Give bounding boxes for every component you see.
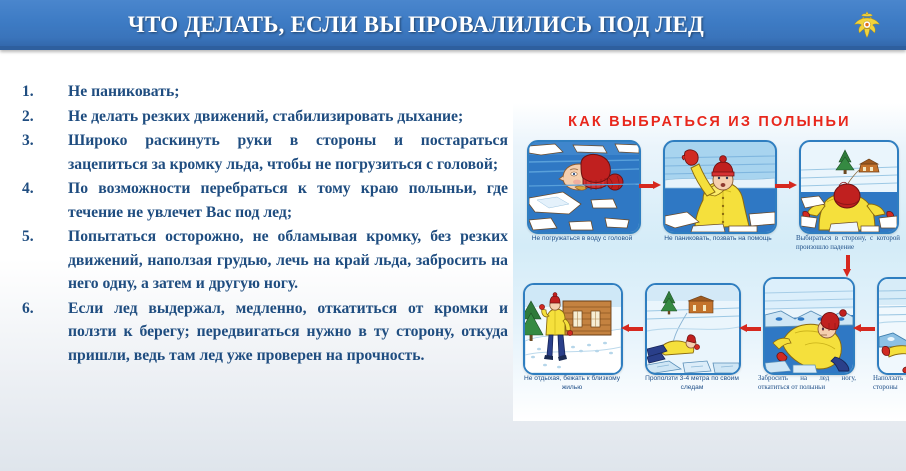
arrow-right-1-icon xyxy=(639,181,661,190)
list-item: 5. Попытаться осторожно, не обламывая кр… xyxy=(12,225,512,296)
list-item-text: Если лед выдержал, медленно, откатиться … xyxy=(68,297,512,368)
list-item-text: Широко раскинуть руки в стороны и постар… xyxy=(68,129,512,176)
panel-3-caption: Выбираться в сторону, с которой произошл… xyxy=(796,235,900,252)
panel-7-caption-text: Наползать на лед, раскинув руки в сторон… xyxy=(873,375,906,392)
panel-1-caption: Не погружаться в воду с головой xyxy=(523,235,641,244)
panel-4-run-to-shelter xyxy=(523,283,623,375)
list-item-text: Не делать резких движений, стабилизирова… xyxy=(68,105,512,129)
list-item-text: Не паниковать; xyxy=(68,80,512,104)
slide-canvas: ЧТО ДЕЛАТЬ, ЕСЛИ ВЫ ПРОВАЛИЛИСЬ ПОД ЛЕД xyxy=(0,0,906,471)
arrow-left-3-icon xyxy=(853,324,875,333)
list-item-number: 4. xyxy=(12,177,68,201)
list-item-number: 1. xyxy=(12,80,68,104)
list-item-text: По возможности перебраться к тому краю п… xyxy=(68,177,512,224)
list-item: 4. По возможности перебраться к тому кра… xyxy=(12,177,512,224)
list-item-number: 6. xyxy=(12,297,68,321)
panel-5-crawl-own-tracks xyxy=(645,283,741,375)
page-title: ЧТО ДЕЛАТЬ, ЕСЛИ ВЫ ПРОВАЛИЛИСЬ ПОД ЛЕД xyxy=(66,8,766,42)
panel-6-caption-text: Забросить на лед ногу, откатиться от пол… xyxy=(758,375,856,392)
arrow-right-2-icon xyxy=(775,181,797,190)
panel-7-spread-arms-on-ice xyxy=(877,277,906,375)
list-item-number: 5. xyxy=(12,225,68,249)
infographic-panel: КАК ВЫБРАТЬСЯ ИЗ ПОЛЫНЬИ xyxy=(513,103,906,421)
infographic-title: КАК ВЫБРАТЬСЯ ИЗ ПОЛЫНЬИ xyxy=(513,114,906,130)
list-item: 6. Если лед выдержал, медленно, откатить… xyxy=(12,297,512,368)
list-item: 3. Широко раскинуть руки в стороны и пос… xyxy=(12,129,512,176)
panel-6-leg-onto-ice xyxy=(763,277,855,375)
panel-3-caption-text: Выбираться в сторону, с которой произошл… xyxy=(796,235,900,252)
panel-4-caption: Не отдыхая, бежать к близкому жилью xyxy=(517,375,627,392)
list-item-number: 3. xyxy=(12,129,68,153)
arrow-left-1-icon xyxy=(621,324,643,333)
panel-6-caption: Забросить на лед ногу, откатиться от пол… xyxy=(758,375,856,392)
emercom-eagle-emblem-icon xyxy=(850,9,884,43)
panel-3-exit-same-side xyxy=(799,140,899,234)
panel-5-caption: Проползти 3-4 метра по своим следам xyxy=(639,375,745,392)
panel-1-head-in-water xyxy=(527,140,641,234)
arrow-left-2-icon xyxy=(739,324,761,333)
panel-2-caption: Не паниковать, позвать на помощь xyxy=(661,235,775,244)
list-item-text: Попытаться осторожно, не обламывая кромк… xyxy=(68,225,512,296)
list-item: 1. Не паниковать; xyxy=(12,80,512,104)
panel-2-call-for-help xyxy=(663,140,777,234)
panel-7-caption: Наползать на лед, раскинув руки в сторон… xyxy=(873,375,906,392)
instructions-list: 1. Не паниковать; 2. Не делать резких дв… xyxy=(12,80,512,368)
slide-header-bar: ЧТО ДЕЛАТЬ, ЕСЛИ ВЫ ПРОВАЛИЛИСЬ ПОД ЛЕД xyxy=(0,0,906,50)
arrow-down-icon xyxy=(843,255,852,277)
list-item: 2. Не делать резких движений, стабилизир… xyxy=(12,105,512,129)
list-item-number: 2. xyxy=(12,105,68,129)
